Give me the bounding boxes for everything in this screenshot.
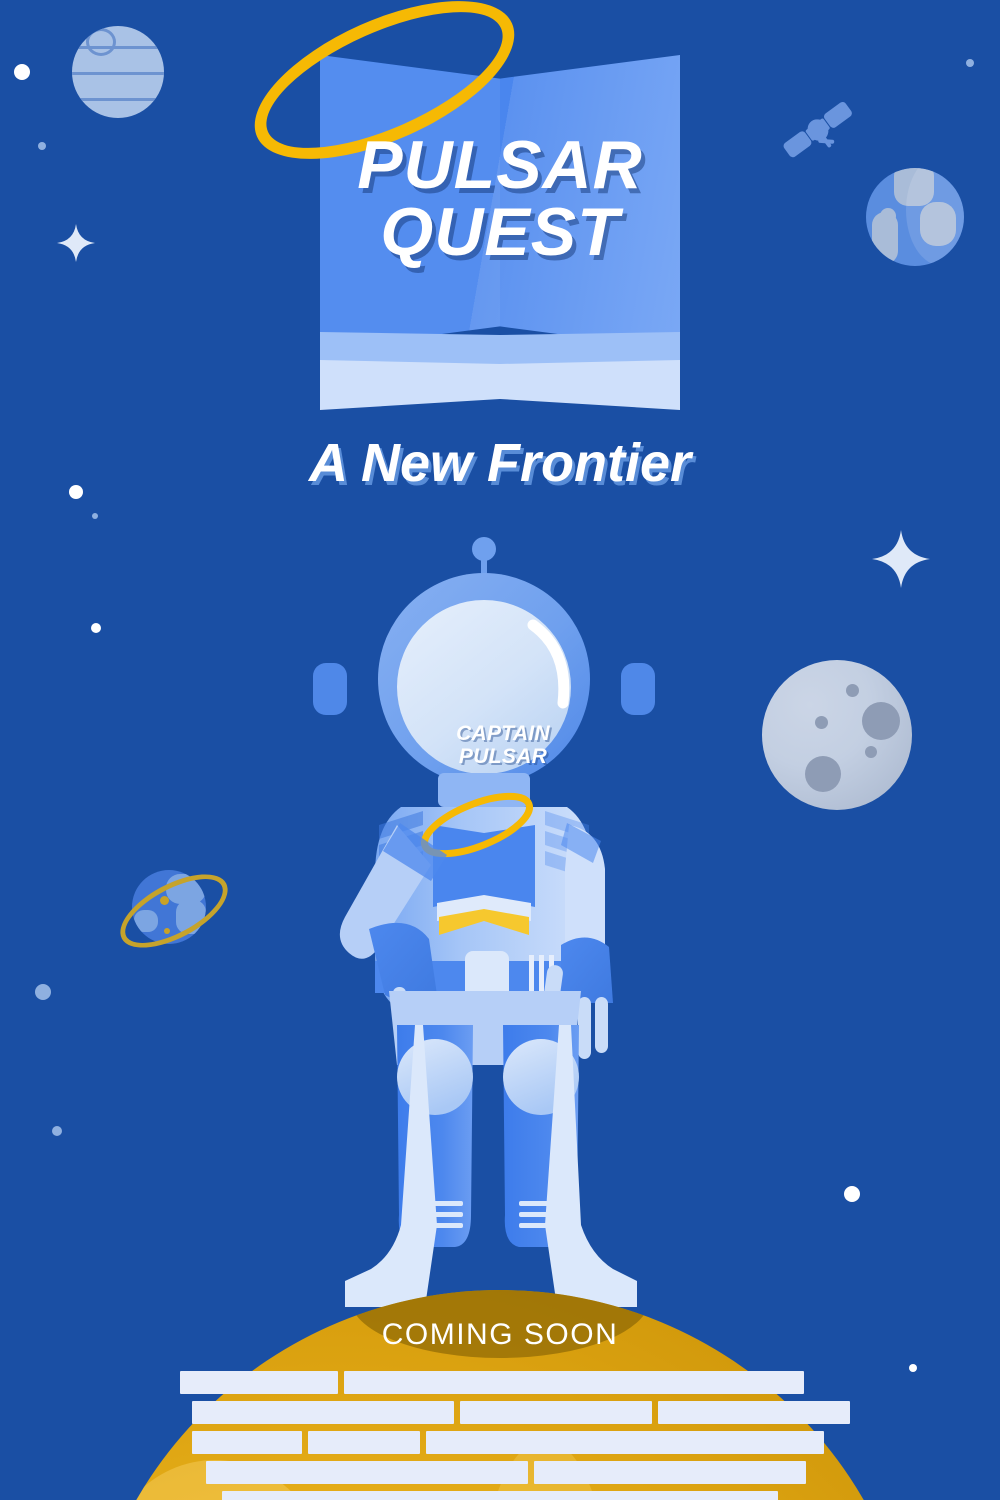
placeholder-bar xyxy=(534,1461,806,1484)
satellite-icon xyxy=(778,90,858,170)
placeholder-row xyxy=(0,1431,1000,1454)
astronaut-svg xyxy=(305,525,695,1315)
placeholder-bar xyxy=(658,1401,850,1424)
star-dot xyxy=(966,59,974,67)
placeholder-bar xyxy=(222,1491,388,1500)
poster-root: PULSAR QUEST A New Frontier xyxy=(0,0,1000,1500)
logo-badge: PULSAR QUEST xyxy=(300,40,700,420)
poster-subtitle: A New Frontier xyxy=(0,432,1000,494)
placeholder-bar xyxy=(460,1401,652,1424)
logo-title-line2: QUEST xyxy=(300,199,700,266)
ringed-planet-icon xyxy=(118,856,220,958)
placeholder-bar xyxy=(192,1401,454,1424)
placeholder-bar xyxy=(206,1461,528,1484)
banded-gas-planet-icon xyxy=(72,26,164,118)
chest-badge-text: CAPTAIN PULSAR xyxy=(418,723,588,768)
placeholder-text-block xyxy=(0,1371,1000,1500)
star-dot xyxy=(92,513,98,519)
coming-soon-label: COMING SOON xyxy=(0,1318,1000,1352)
astronaut-figure xyxy=(305,525,695,1315)
star-dot xyxy=(52,1126,62,1136)
placeholder-bar xyxy=(378,1491,778,1500)
star-dot xyxy=(14,64,30,80)
placeholder-bar xyxy=(344,1371,804,1394)
placeholder-bar xyxy=(192,1431,302,1454)
star-dot xyxy=(844,1186,860,1202)
cratered-moon-icon xyxy=(762,660,912,810)
sparkle-star-icon xyxy=(57,224,95,262)
sparkle-star-icon xyxy=(872,530,930,588)
star-dot xyxy=(35,984,51,1000)
chest-badge-line1: CAPTAIN xyxy=(456,722,550,745)
placeholder-row xyxy=(0,1401,1000,1424)
logo-title-line1: PULSAR xyxy=(357,127,643,203)
logo-banner-stripe-bottom xyxy=(320,360,680,410)
earth-like-planet-icon xyxy=(866,168,964,266)
logo-title: PULSAR QUEST xyxy=(300,132,700,267)
chest-badge-line2: PULSAR xyxy=(459,745,547,768)
star-dot xyxy=(38,142,46,150)
placeholder-bar xyxy=(426,1431,824,1454)
placeholder-bar xyxy=(308,1431,420,1454)
placeholder-row xyxy=(0,1461,1000,1484)
placeholder-row xyxy=(0,1371,1000,1394)
placeholder-bar xyxy=(180,1371,338,1394)
placeholder-row xyxy=(0,1491,1000,1500)
star-dot xyxy=(91,623,101,633)
